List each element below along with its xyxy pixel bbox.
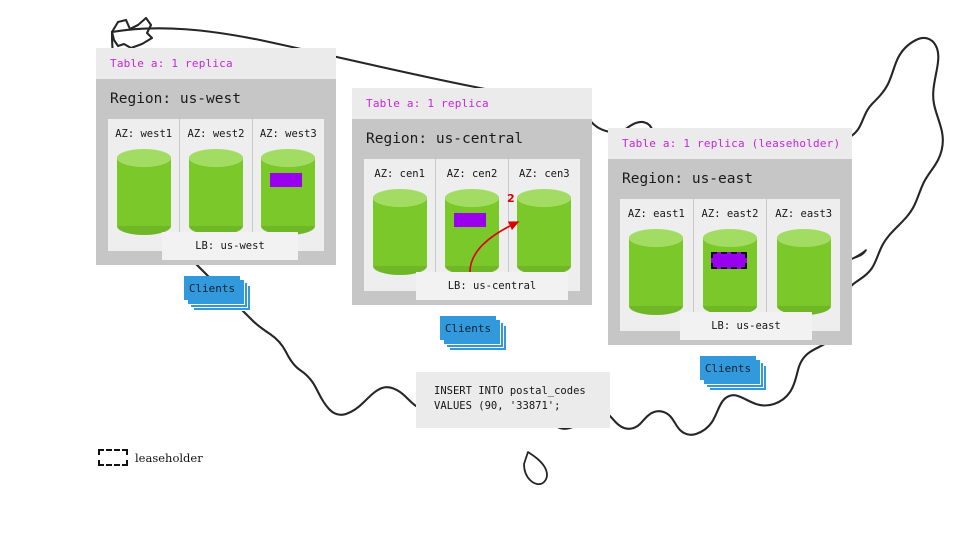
clients-stack-us-central[interactable]: Clients [440, 316, 510, 352]
node-cylinder-west3[interactable] [261, 149, 315, 235]
clients-stack-us-east[interactable]: Clients [700, 356, 770, 392]
node-cylinder-west1[interactable] [117, 149, 171, 235]
diagram-canvas: Table a: 1 replica Region: us-west AZ: w… [0, 0, 960, 540]
cylinder-top [117, 149, 171, 167]
cylinder-body [629, 238, 683, 306]
node-cylinder-cen3[interactable] [517, 189, 571, 275]
node-cylinder-cen2[interactable] [445, 189, 499, 275]
replica-banner-us-east: Table a: 1 replica (leaseholder) [608, 128, 852, 159]
node-cylinder-cen1[interactable] [373, 189, 427, 275]
replica-block-cen2[interactable] [454, 213, 486, 227]
node-cylinder-east3[interactable] [777, 229, 831, 315]
dashed-rect-icon [98, 449, 128, 466]
region-panel-us-central: Table a: 1 replica Region: us-central AZ… [352, 88, 592, 305]
region-title-us-central: Region: us-central [352, 119, 592, 159]
cylinder-body [117, 158, 171, 226]
clients-label-us-west[interactable]: Clients [184, 276, 240, 300]
az-label-west3: AZ: west3 [260, 128, 317, 140]
cylinder-body [445, 198, 499, 266]
az-label-cen3: AZ: cen3 [519, 168, 570, 180]
cylinder-top [703, 229, 757, 247]
legend: leaseholder [98, 449, 203, 466]
cylinder-top [629, 229, 683, 247]
cylinder-top [517, 189, 571, 207]
cylinder-top [373, 189, 427, 207]
replica-banner-us-west: Table a: 1 replica [96, 48, 336, 79]
clients-label-us-east[interactable]: Clients [700, 356, 756, 380]
cylinder-top [445, 189, 499, 207]
az-label-west2: AZ: west2 [188, 128, 245, 140]
node-cylinder-east2[interactable] [703, 229, 757, 315]
region-panel-us-east: Table a: 1 replica (leaseholder) Region:… [608, 128, 852, 345]
az-label-east1: AZ: east1 [628, 208, 685, 220]
replica-block-east2-leaseholder[interactable] [711, 252, 747, 269]
cylinder-body [189, 158, 243, 226]
replica-banner-us-central: Table a: 1 replica [352, 88, 592, 119]
cylinder-top [189, 149, 243, 167]
cylinder-body [703, 238, 757, 306]
region-title-us-east: Region: us-east [608, 159, 852, 199]
replica-block-west3[interactable] [270, 173, 302, 187]
region-panel-us-west: Table a: 1 replica Region: us-west AZ: w… [96, 48, 336, 265]
sql-statement-box: INSERT INTO postal_codes VALUES (90, '33… [416, 372, 610, 428]
az-label-east3: AZ: east3 [775, 208, 832, 220]
cylinder-body [517, 198, 571, 266]
az-label-cen2: AZ: cen2 [447, 168, 498, 180]
load-balancer-us-central[interactable]: LB: us-central [416, 272, 568, 300]
cylinder-body [373, 198, 427, 266]
clients-stack-us-west[interactable]: Clients [184, 276, 254, 312]
cylinder-body [261, 158, 315, 226]
legend-label: leaseholder [135, 451, 203, 465]
node-cylinder-east1[interactable] [629, 229, 683, 315]
cylinder-body [777, 238, 831, 306]
az-label-west1: AZ: west1 [115, 128, 172, 140]
region-title-us-west: Region: us-west [96, 79, 336, 119]
load-balancer-us-west[interactable]: LB: us-west [162, 232, 298, 260]
az-label-east2: AZ: east2 [702, 208, 759, 220]
cylinder-top [777, 229, 831, 247]
arrow-label-2: 2 [507, 192, 515, 205]
cylinder-top [261, 149, 315, 167]
load-balancer-us-east[interactable]: LB: us-east [680, 312, 812, 340]
clients-label-us-central[interactable]: Clients [440, 316, 496, 340]
node-cylinder-west2[interactable] [189, 149, 243, 235]
az-label-cen1: AZ: cen1 [374, 168, 425, 180]
